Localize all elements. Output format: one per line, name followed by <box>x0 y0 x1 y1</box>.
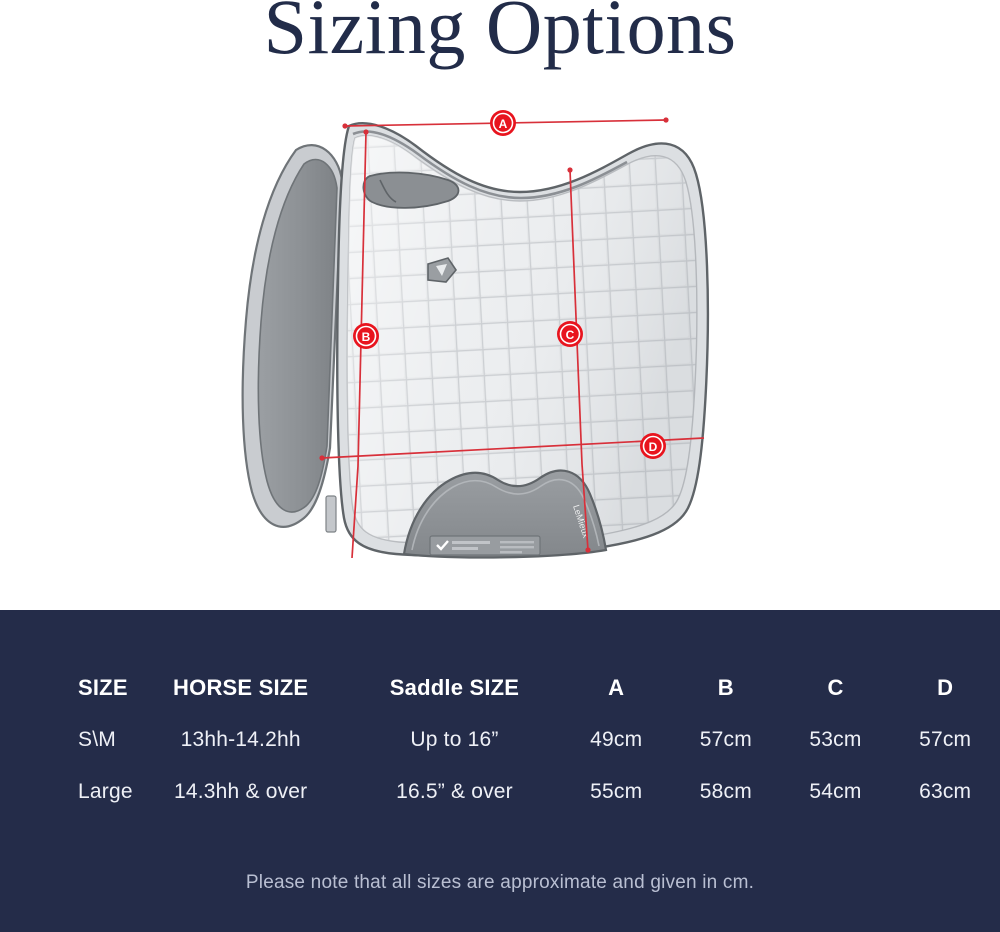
table-row: S\M 13hh-14.2hh Up to 16” 49cm 57cm 53cm… <box>0 714 1000 766</box>
marker-a: A <box>490 110 516 136</box>
saddle-pad-diagram: LeMieux <box>0 88 1000 610</box>
cell-a: 49cm <box>561 714 671 766</box>
table-row: Large 14.3hh & over 16.5” & over 55cm 58… <box>0 766 1000 818</box>
cell-size: S\M <box>0 714 134 766</box>
cell-b: 57cm <box>671 714 781 766</box>
cell-size: Large <box>0 766 134 818</box>
cell-saddle-size: Up to 16” <box>348 714 562 766</box>
table-header-row: SIZE HORSE SIZE Saddle SIZE A B C D <box>0 662 1000 714</box>
cell-d: 63cm <box>890 766 1000 818</box>
pad-side-tab <box>326 496 336 532</box>
marker-c-label: C <box>566 328 575 342</box>
column-header-a: A <box>561 662 671 714</box>
sizing-table: SIZE HORSE SIZE Saddle SIZE A B C D S\M … <box>0 662 1000 818</box>
title-area: Sizing Options <box>0 0 1000 88</box>
cell-a: 55cm <box>561 766 671 818</box>
marker-c: C <box>557 321 583 347</box>
sizing-table-head: SIZE HORSE SIZE Saddle SIZE A B C D <box>0 662 1000 714</box>
cell-horse-size: 14.3hh & over <box>134 766 348 818</box>
cell-horse-size: 13hh-14.2hh <box>134 714 348 766</box>
cell-saddle-size: 16.5” & over <box>348 766 562 818</box>
column-header-horse-size: HORSE SIZE <box>134 662 348 714</box>
cell-c: 53cm <box>781 714 891 766</box>
cell-c: 54cm <box>781 766 891 818</box>
column-header-size: SIZE <box>0 662 134 714</box>
marker-b-label: B <box>362 330 371 344</box>
spec-band: SIZE HORSE SIZE Saddle SIZE A B C D S\M … <box>0 610 1000 932</box>
pad-left-wing <box>243 145 342 527</box>
page-title: Sizing Options <box>0 0 1000 69</box>
column-header-c: C <box>781 662 891 714</box>
sizing-options-page: Sizing Options <box>0 0 1000 932</box>
sizing-table-body: S\M 13hh-14.2hh Up to 16” 49cm 57cm 53cm… <box>0 714 1000 818</box>
cell-d: 57cm <box>890 714 1000 766</box>
saddle-pad-illustration: LeMieux <box>0 88 1000 610</box>
sizing-footnote: Please note that all sizes are approxima… <box>0 872 1000 894</box>
cell-b: 58cm <box>671 766 781 818</box>
marker-b: B <box>353 323 379 349</box>
marker-d: D <box>640 433 666 459</box>
marker-d-label: D <box>649 440 658 454</box>
column-header-saddle-size: Saddle SIZE <box>348 662 562 714</box>
marker-a-label: A <box>499 117 508 131</box>
column-header-b: B <box>671 662 781 714</box>
column-header-d: D <box>890 662 1000 714</box>
